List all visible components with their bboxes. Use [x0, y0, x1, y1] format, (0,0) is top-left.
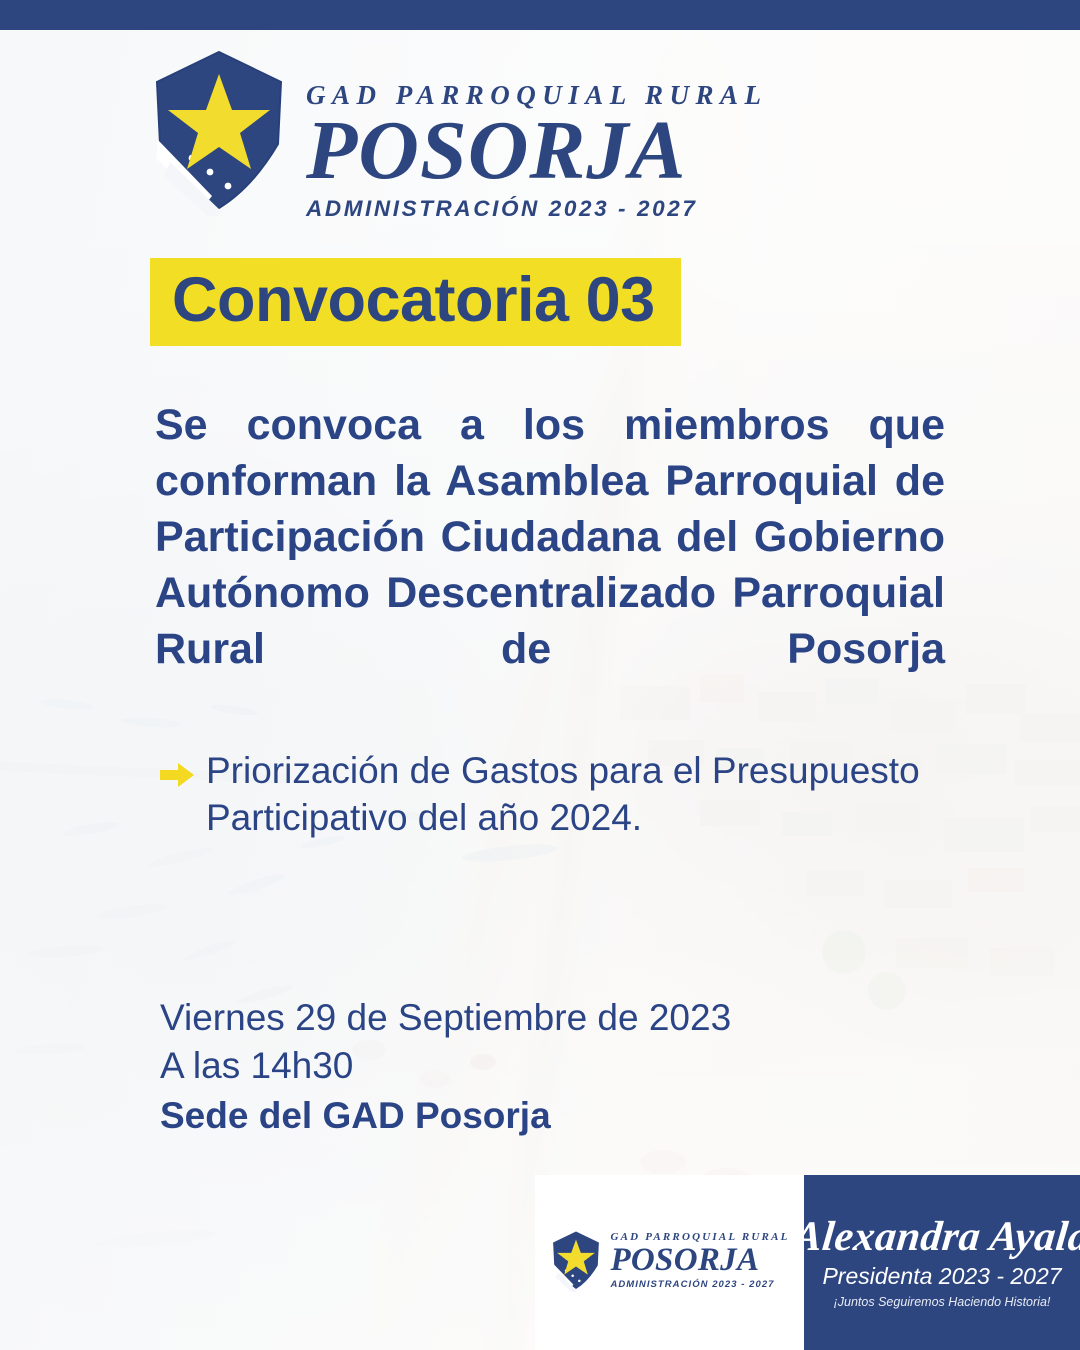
footer-logo-line3: ADMINISTRACIÓN 2023 - 2027	[610, 1280, 789, 1290]
event-details: Viernes 29 de Septiembre de 2023 A las 1…	[160, 994, 731, 1140]
administration-tagline: ¡Juntos Seguiremos Haciendo Historia!	[834, 1296, 1051, 1310]
header-logo-line3: ADMINISTRACIÓN 2023 - 2027	[306, 198, 768, 221]
header-logo: GAD PARROQUIAL RURAL POSORJA ADMINISTRAC…	[148, 44, 768, 220]
event-venue: Sede del GAD Posorja	[160, 1092, 731, 1140]
footer-signature-panel: Alexandra Ayala Presidenta 2023 - 2027 ¡…	[804, 1175, 1080, 1350]
convocatoria-poster: GAD PARROQUIAL RURAL POSORJA ADMINISTRAC…	[0, 0, 1080, 1350]
posorja-shield-emblem	[148, 48, 290, 216]
header-logo-line2: POSORJA	[306, 111, 768, 192]
agenda-item: Priorización de Gastos para el Presupues…	[160, 748, 960, 841]
top-accent-bar	[0, 0, 1080, 30]
president-name: Alexandra Ayala	[792, 1215, 1080, 1259]
footer-logo: GAD PARROQUIAL RURAL POSORJA ADMINISTRAC…	[549, 1230, 789, 1292]
header-logo-wordmark: GAD PARROQUIAL RURAL POSORJA ADMINISTRAC…	[306, 82, 768, 220]
footer-logo-wordmark: GAD PARROQUIAL RURAL POSORJA ADMINISTRAC…	[610, 1232, 789, 1290]
agenda-item-text: Priorización de Gastos para el Presupues…	[206, 748, 960, 841]
page-title: Convocatoria 03	[172, 268, 655, 332]
convocation-paragraph: Se convoca a los miembros que conforman …	[155, 398, 945, 733]
footer-logo-panel: GAD PARROQUIAL RURAL POSORJA ADMINISTRAC…	[535, 1175, 804, 1350]
title-banner: Convocatoria 03	[150, 258, 681, 346]
event-date: Viernes 29 de Septiembre de 2023	[160, 994, 731, 1042]
event-time: A las 14h30	[160, 1042, 731, 1090]
footer-logo-line2: POSORJA	[610, 1244, 789, 1277]
arrow-right-icon	[160, 762, 194, 788]
posorja-shield-emblem	[549, 1230, 603, 1292]
president-role: Presidenta 2023 - 2027	[822, 1264, 1061, 1289]
